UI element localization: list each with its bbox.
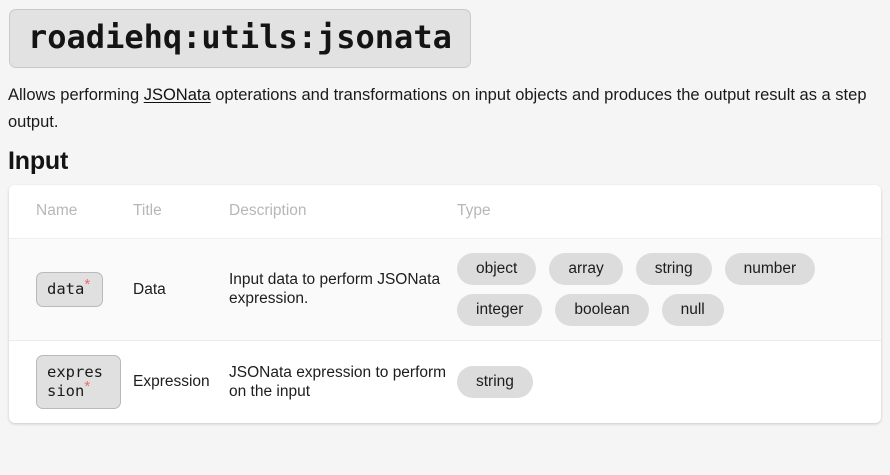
param-name-text: expression: [47, 363, 103, 400]
description-text-before: Allows performing: [8, 86, 144, 104]
action-description: Allows performing JSONata opterations an…: [8, 82, 874, 136]
cell-title: Data: [133, 238, 229, 340]
jsonata-link[interactable]: JSONata: [144, 86, 211, 104]
table-header-row: Name Title Description Type: [9, 185, 881, 239]
cell-title: Expression: [133, 340, 229, 423]
page-root: roadiehq:utils:jsonata Allows performing…: [0, 0, 890, 475]
input-parameters-table: Name Title Description Type data* Data I…: [9, 185, 881, 423]
title-container: roadiehq:utils:jsonata: [0, 0, 890, 68]
column-header-type: Type: [457, 185, 881, 239]
action-id-chip: roadiehq:utils:jsonata: [9, 9, 471, 68]
type-pill: array: [549, 253, 622, 285]
table-header: Name Title Description Type: [9, 185, 881, 239]
type-pill: number: [725, 253, 816, 285]
type-pill: string: [636, 253, 712, 285]
cell-type: object array string number integer boole…: [457, 238, 881, 340]
cell-name: data*: [9, 238, 133, 340]
table-body: data* Data Input data to perform JSONata…: [9, 238, 881, 423]
cell-name: expression*: [9, 340, 133, 423]
table-row: expression* Expression JSONata expressio…: [9, 340, 881, 423]
input-parameters-card: Name Title Description Type data* Data I…: [9, 185, 881, 423]
type-pill: integer: [457, 294, 542, 326]
cell-type: string: [457, 340, 881, 423]
type-pill: null: [662, 294, 724, 326]
param-name-chip: expression*: [36, 355, 121, 409]
type-pill-group: object array string number integer boole…: [457, 253, 873, 326]
param-name-chip: data*: [36, 272, 103, 307]
type-pill: object: [457, 253, 536, 285]
required-asterisk-icon: *: [84, 276, 90, 293]
section-heading-input: Input: [8, 146, 890, 176]
cell-description: JSONata expression to perform on the inp…: [229, 340, 457, 423]
cell-description: Input data to perform JSONata expression…: [229, 238, 457, 340]
type-pill: string: [457, 366, 533, 398]
type-pill-group: string: [457, 366, 873, 398]
column-header-title: Title: [133, 185, 229, 239]
column-header-name: Name: [9, 185, 133, 239]
required-asterisk-icon: *: [84, 378, 90, 395]
type-pill: boolean: [555, 294, 648, 326]
column-header-description: Description: [229, 185, 457, 239]
param-name-text: data: [47, 280, 84, 298]
table-row: data* Data Input data to perform JSONata…: [9, 238, 881, 340]
